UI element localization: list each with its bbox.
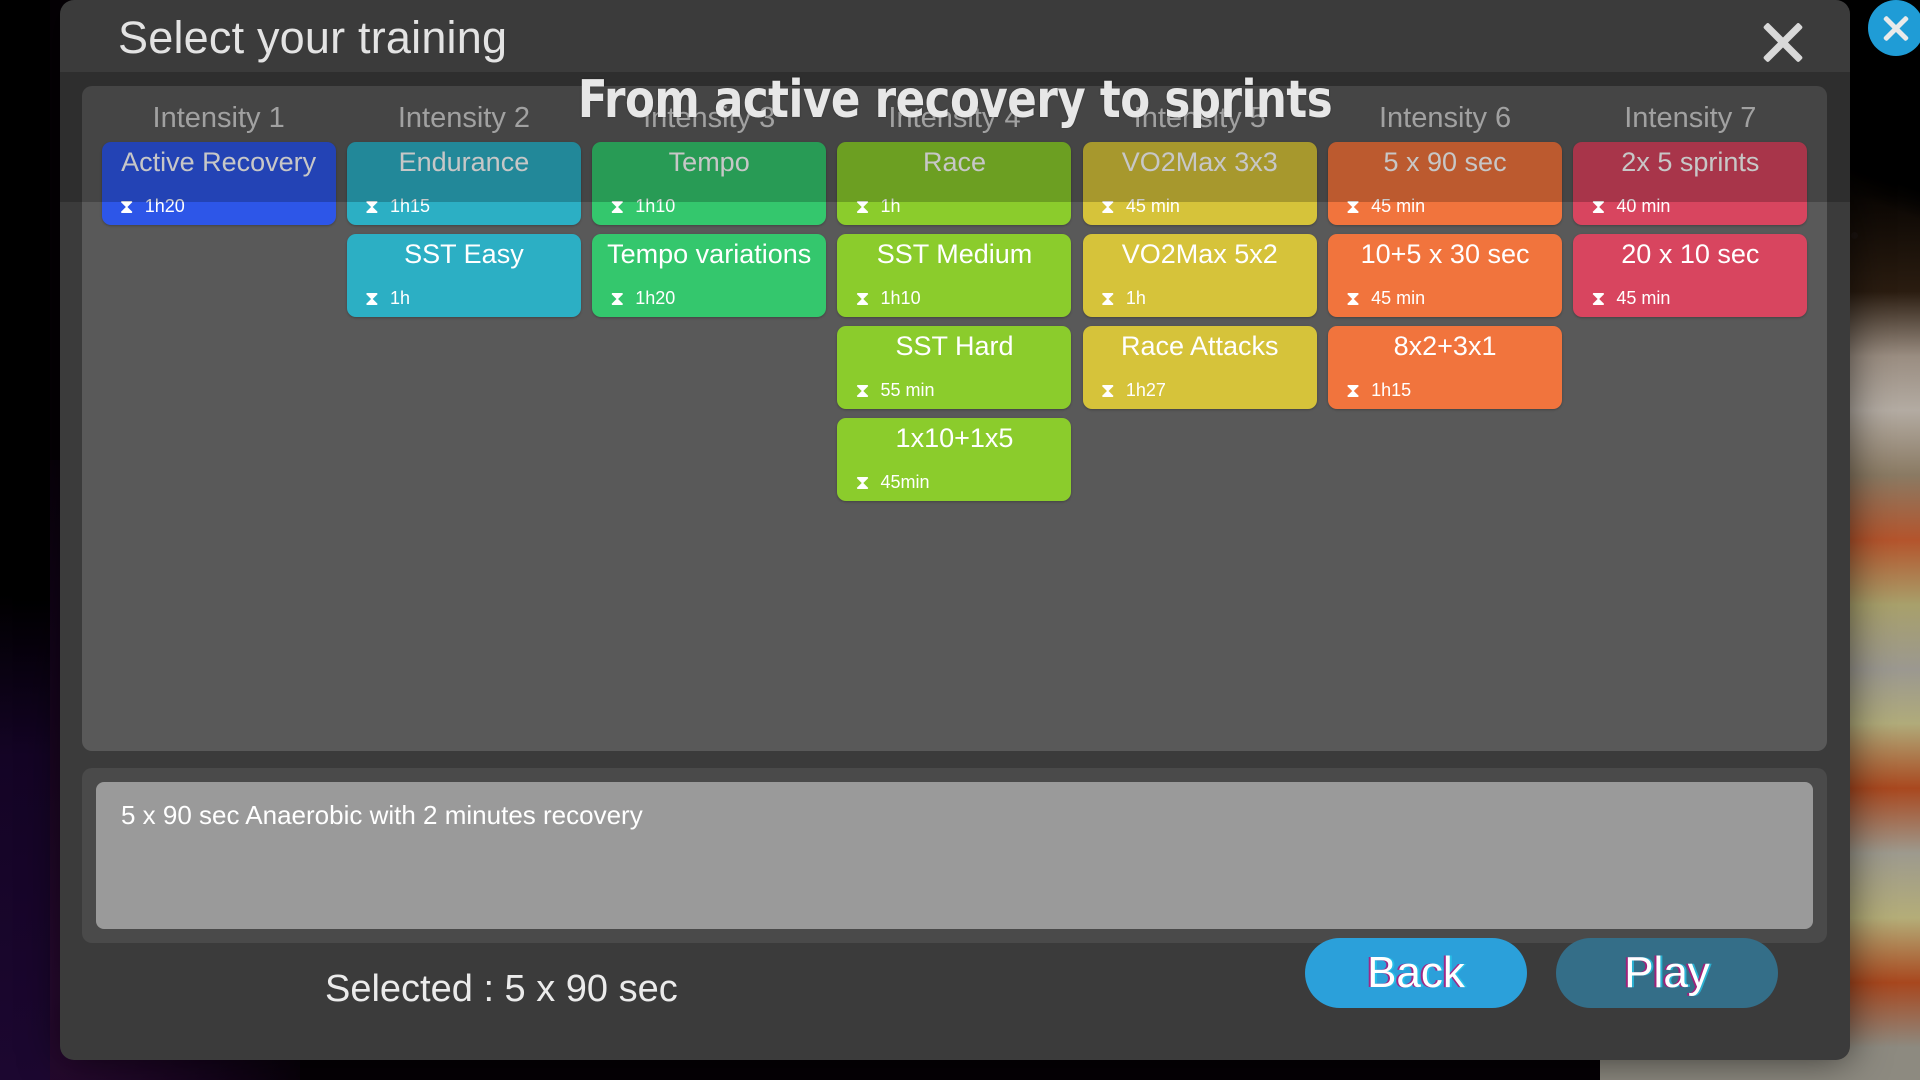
training-card-duration: ⧗1h27: [1101, 380, 1166, 401]
training-card-name: 1x10+1x5: [837, 423, 1071, 454]
training-card-name: SST Hard: [837, 331, 1071, 362]
training-card-name: 10+5 x 30 sec: [1328, 239, 1562, 270]
hourglass-icon: ⧗: [1101, 381, 1115, 401]
training-card-duration: ⧗45min: [855, 472, 929, 493]
hourglass-icon: ⧗: [1346, 197, 1360, 217]
duration-text: 1h: [390, 288, 410, 309]
intensity-column-header: Intensity 7: [1624, 94, 1756, 142]
training-card[interactable]: 2x 5 sprints⧗40 min: [1573, 142, 1807, 225]
training-card-name: SST Easy: [347, 239, 581, 270]
training-card[interactable]: Tempo variations⧗1h20: [592, 234, 826, 317]
training-card-name: Endurance: [347, 147, 581, 178]
training-card-list: Race⧗1hSST Medium⧗1h10SST Hard⧗55 min1x1…: [832, 142, 1077, 501]
training-card-duration: ⧗1h20: [120, 196, 185, 217]
hourglass-icon: ⧗: [365, 197, 379, 217]
training-card[interactable]: Tempo⧗1h10: [592, 142, 826, 225]
hourglass-icon: ⧗: [1591, 197, 1605, 217]
hourglass-icon: ⧗: [1346, 381, 1360, 401]
hourglass-icon: ⧗: [855, 381, 869, 401]
background-dot: [1851, 232, 1858, 239]
training-card-name: 8x2+3x1: [1328, 331, 1562, 362]
dialog-titlebar: Select your training: [60, 0, 1850, 88]
intensity-column-header: Intensity 5: [1134, 94, 1266, 142]
duration-text: 1h27: [1126, 380, 1166, 401]
training-card-list: 5 x 90 sec⧗45 min10+5 x 30 sec⧗45 min8x2…: [1322, 142, 1567, 409]
training-card-duration: ⧗1h20: [610, 288, 675, 309]
duration-text: 45 min: [1616, 288, 1670, 309]
training-card-name: Active Recovery: [102, 147, 336, 178]
intensity-column: Intensity 1Active Recovery⧗1h20: [96, 94, 341, 744]
training-grid-panel: Intensity 1Active Recovery⧗1h20Intensity…: [82, 86, 1827, 751]
training-card-duration: ⧗1h15: [1346, 380, 1411, 401]
training-card[interactable]: 8x2+3x1⧗1h15: [1328, 326, 1562, 409]
training-card-list: Tempo⧗1h10Tempo variations⧗1h20: [587, 142, 832, 317]
training-card-name: Race: [837, 147, 1071, 178]
duration-text: 1h: [881, 196, 901, 217]
training-card-duration: ⧗45 min: [1591, 288, 1670, 309]
duration-text: 45 min: [1126, 196, 1180, 217]
intensity-column: Intensity 72x 5 sprints⧗40 min20 x 10 se…: [1568, 94, 1813, 744]
play-button[interactable]: Play: [1556, 938, 1778, 1008]
duration-text: 1h15: [1371, 380, 1411, 401]
training-card-name: Race Attacks: [1083, 331, 1317, 362]
hourglass-icon: ⧗: [855, 473, 869, 493]
intensity-column: Intensity 5VO2Max 3x3⧗45 minVO2Max 5x2⧗1…: [1077, 94, 1322, 744]
selected-training-label: Selected : 5 x 90 sec: [325, 968, 678, 1011]
training-card-name: VO2Max 5x2: [1083, 239, 1317, 270]
training-card-list: 2x 5 sprints⧗40 min20 x 10 sec⧗45 min: [1568, 142, 1813, 317]
training-card-duration: ⧗1h10: [610, 196, 675, 217]
hourglass-icon: ⧗: [1591, 289, 1605, 309]
training-card-duration: ⧗40 min: [1591, 196, 1670, 217]
training-card-list: Active Recovery⧗1h20: [96, 142, 341, 225]
hourglass-icon: ⧗: [1101, 289, 1115, 309]
intensity-column-header: Intensity 3: [643, 94, 775, 142]
training-card-duration: ⧗1h: [855, 196, 900, 217]
training-card-duration: ⧗55 min: [855, 380, 934, 401]
background-left-strip: [0, 0, 50, 1080]
intensity-column-header: Intensity 1: [153, 94, 285, 142]
hourglass-icon: ⧗: [855, 289, 869, 309]
training-card[interactable]: VO2Max 3x3⧗45 min: [1083, 142, 1317, 225]
duration-text: 40 min: [1616, 196, 1670, 217]
training-card-list: Endurance⧗1h15SST Easy⧗1h: [341, 142, 586, 317]
duration-text: 45 min: [1371, 196, 1425, 217]
training-card[interactable]: SST Hard⧗55 min: [837, 326, 1071, 409]
duration-text: 1h: [1126, 288, 1146, 309]
intensity-column: Intensity 65 x 90 sec⧗45 min10+5 x 30 se…: [1322, 94, 1567, 744]
training-card-duration: ⧗1h: [365, 288, 410, 309]
description-box: 5 x 90 sec Anaerobic with 2 minutes reco…: [96, 782, 1813, 929]
training-card[interactable]: 1x10+1x5⧗45min: [837, 418, 1071, 501]
intensity-column-header: Intensity 4: [888, 94, 1020, 142]
duration-text: 1h10: [881, 288, 921, 309]
intensity-column-header: Intensity 6: [1379, 94, 1511, 142]
duration-text: 1h20: [145, 196, 185, 217]
description-panel: 5 x 90 sec Anaerobic with 2 minutes reco…: [82, 768, 1827, 943]
training-card[interactable]: Active Recovery⧗1h20: [102, 142, 336, 225]
duration-text: 55 min: [881, 380, 935, 401]
training-card-name: 20 x 10 sec: [1573, 239, 1807, 270]
training-card[interactable]: SST Easy⧗1h: [347, 234, 581, 317]
intensity-columns: Intensity 1Active Recovery⧗1h20Intensity…: [96, 94, 1813, 744]
training-card-list: VO2Max 3x3⧗45 minVO2Max 5x2⧗1hRace Attac…: [1077, 142, 1322, 409]
description-text: 5 x 90 sec Anaerobic with 2 minutes reco…: [121, 800, 643, 831]
intensity-column: Intensity 2Endurance⧗1h15SST Easy⧗1h: [341, 94, 586, 744]
training-card-name: SST Medium: [837, 239, 1071, 270]
training-card-name: VO2Max 3x3: [1083, 147, 1317, 178]
training-card-duration: ⧗45 min: [1101, 196, 1180, 217]
intensity-column-header: Intensity 2: [398, 94, 530, 142]
hourglass-icon: ⧗: [120, 197, 134, 217]
training-card-name: Tempo: [592, 147, 826, 178]
training-card[interactable]: VO2Max 5x2⧗1h: [1083, 234, 1317, 317]
training-card[interactable]: Endurance⧗1h15: [347, 142, 581, 225]
training-selection-dialog: Select your training Intensity 1Active R…: [60, 0, 1850, 1060]
training-card[interactable]: SST Medium⧗1h10: [837, 234, 1071, 317]
hourglass-icon: ⧗: [365, 289, 379, 309]
duration-text: 1h10: [635, 196, 675, 217]
training-card-duration: ⧗45 min: [1346, 196, 1425, 217]
training-card-duration: ⧗1h: [1101, 288, 1146, 309]
training-card-duration: ⧗1h10: [855, 288, 920, 309]
close-icon[interactable]: [1754, 14, 1810, 70]
page-title: Select your training: [118, 12, 507, 64]
training-card[interactable]: Race⧗1h: [837, 142, 1071, 225]
intensity-column: Intensity 4Race⧗1hSST Medium⧗1h10SST Har…: [832, 94, 1077, 744]
training-card-name: 5 x 90 sec: [1328, 147, 1562, 178]
hourglass-icon: ⧗: [1346, 289, 1360, 309]
hourglass-icon: ⧗: [610, 289, 624, 309]
training-card[interactable]: 10+5 x 30 sec⧗45 min: [1328, 234, 1562, 317]
training-card[interactable]: 5 x 90 sec⧗45 min: [1328, 142, 1562, 225]
duration-text: 45min: [881, 472, 930, 493]
training-card[interactable]: Race Attacks⧗1h27: [1083, 326, 1317, 409]
hourglass-icon: ⧗: [610, 197, 624, 217]
training-card-duration: ⧗1h15: [365, 196, 430, 217]
training-card-name: Tempo variations: [592, 239, 826, 270]
training-card-name: 2x 5 sprints: [1573, 147, 1807, 178]
intensity-column: Intensity 3Tempo⧗1h10Tempo variations⧗1h…: [587, 94, 832, 744]
duration-text: 1h15: [390, 196, 430, 217]
duration-text: 45 min: [1371, 288, 1425, 309]
hourglass-icon: ⧗: [1101, 197, 1115, 217]
duration-text: 1h20: [635, 288, 675, 309]
training-card[interactable]: 20 x 10 sec⧗45 min: [1573, 234, 1807, 317]
training-card-duration: ⧗45 min: [1346, 288, 1425, 309]
hourglass-icon: ⧗: [855, 197, 869, 217]
circle-close-icon[interactable]: [1868, 0, 1920, 56]
back-button[interactable]: Back: [1305, 938, 1527, 1008]
